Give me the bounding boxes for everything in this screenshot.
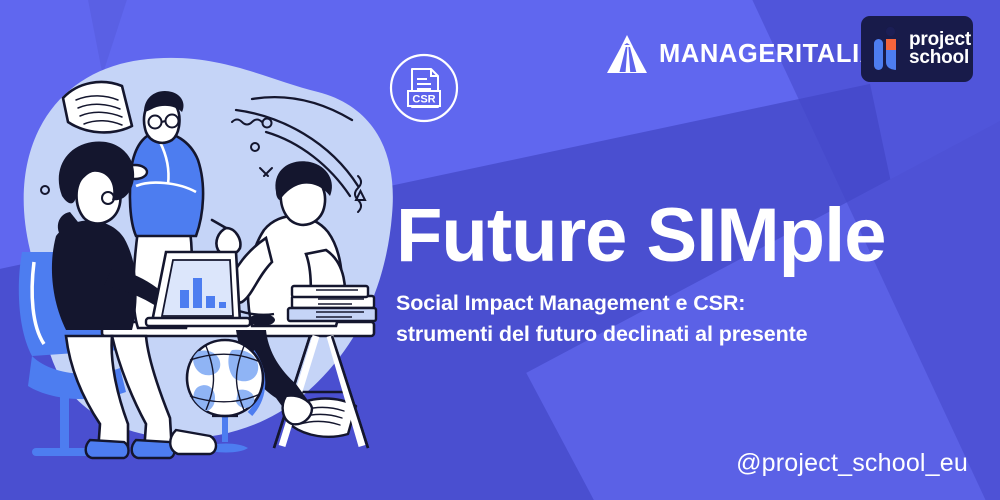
person-figure-icon xyxy=(872,26,902,72)
stack-of-books xyxy=(288,286,376,321)
mouse-icon xyxy=(249,314,275,326)
page-title: Future SIMple xyxy=(396,198,976,274)
badge-label: CSR xyxy=(412,94,435,106)
project-school-wordmark: project school xyxy=(909,31,971,68)
subtitle-line-1: Social Impact Management e CSR: xyxy=(396,288,976,319)
logo-manageritalia: MANAGERITALIA xyxy=(606,33,879,77)
subtitle-line-2: strumenti del futuro declinati al presen… xyxy=(396,319,976,350)
logo-project-school: project school xyxy=(861,16,973,82)
csr-badge: CSR xyxy=(388,52,460,124)
social-handle: @project_school_eu xyxy=(736,449,968,478)
promo-banner: CSR MANAGERITALIA project school Future … xyxy=(0,0,1000,500)
headline-block: Future SIMple Social Impact Management e… xyxy=(396,198,976,349)
pyramid-arrow-icon xyxy=(606,35,648,75)
ps-word-school: school xyxy=(909,49,971,67)
manageritalia-wordmark: MANAGERITALIA xyxy=(659,42,879,68)
team-meeting-illustration xyxy=(0,0,420,500)
flying-papers-icon xyxy=(63,82,132,132)
